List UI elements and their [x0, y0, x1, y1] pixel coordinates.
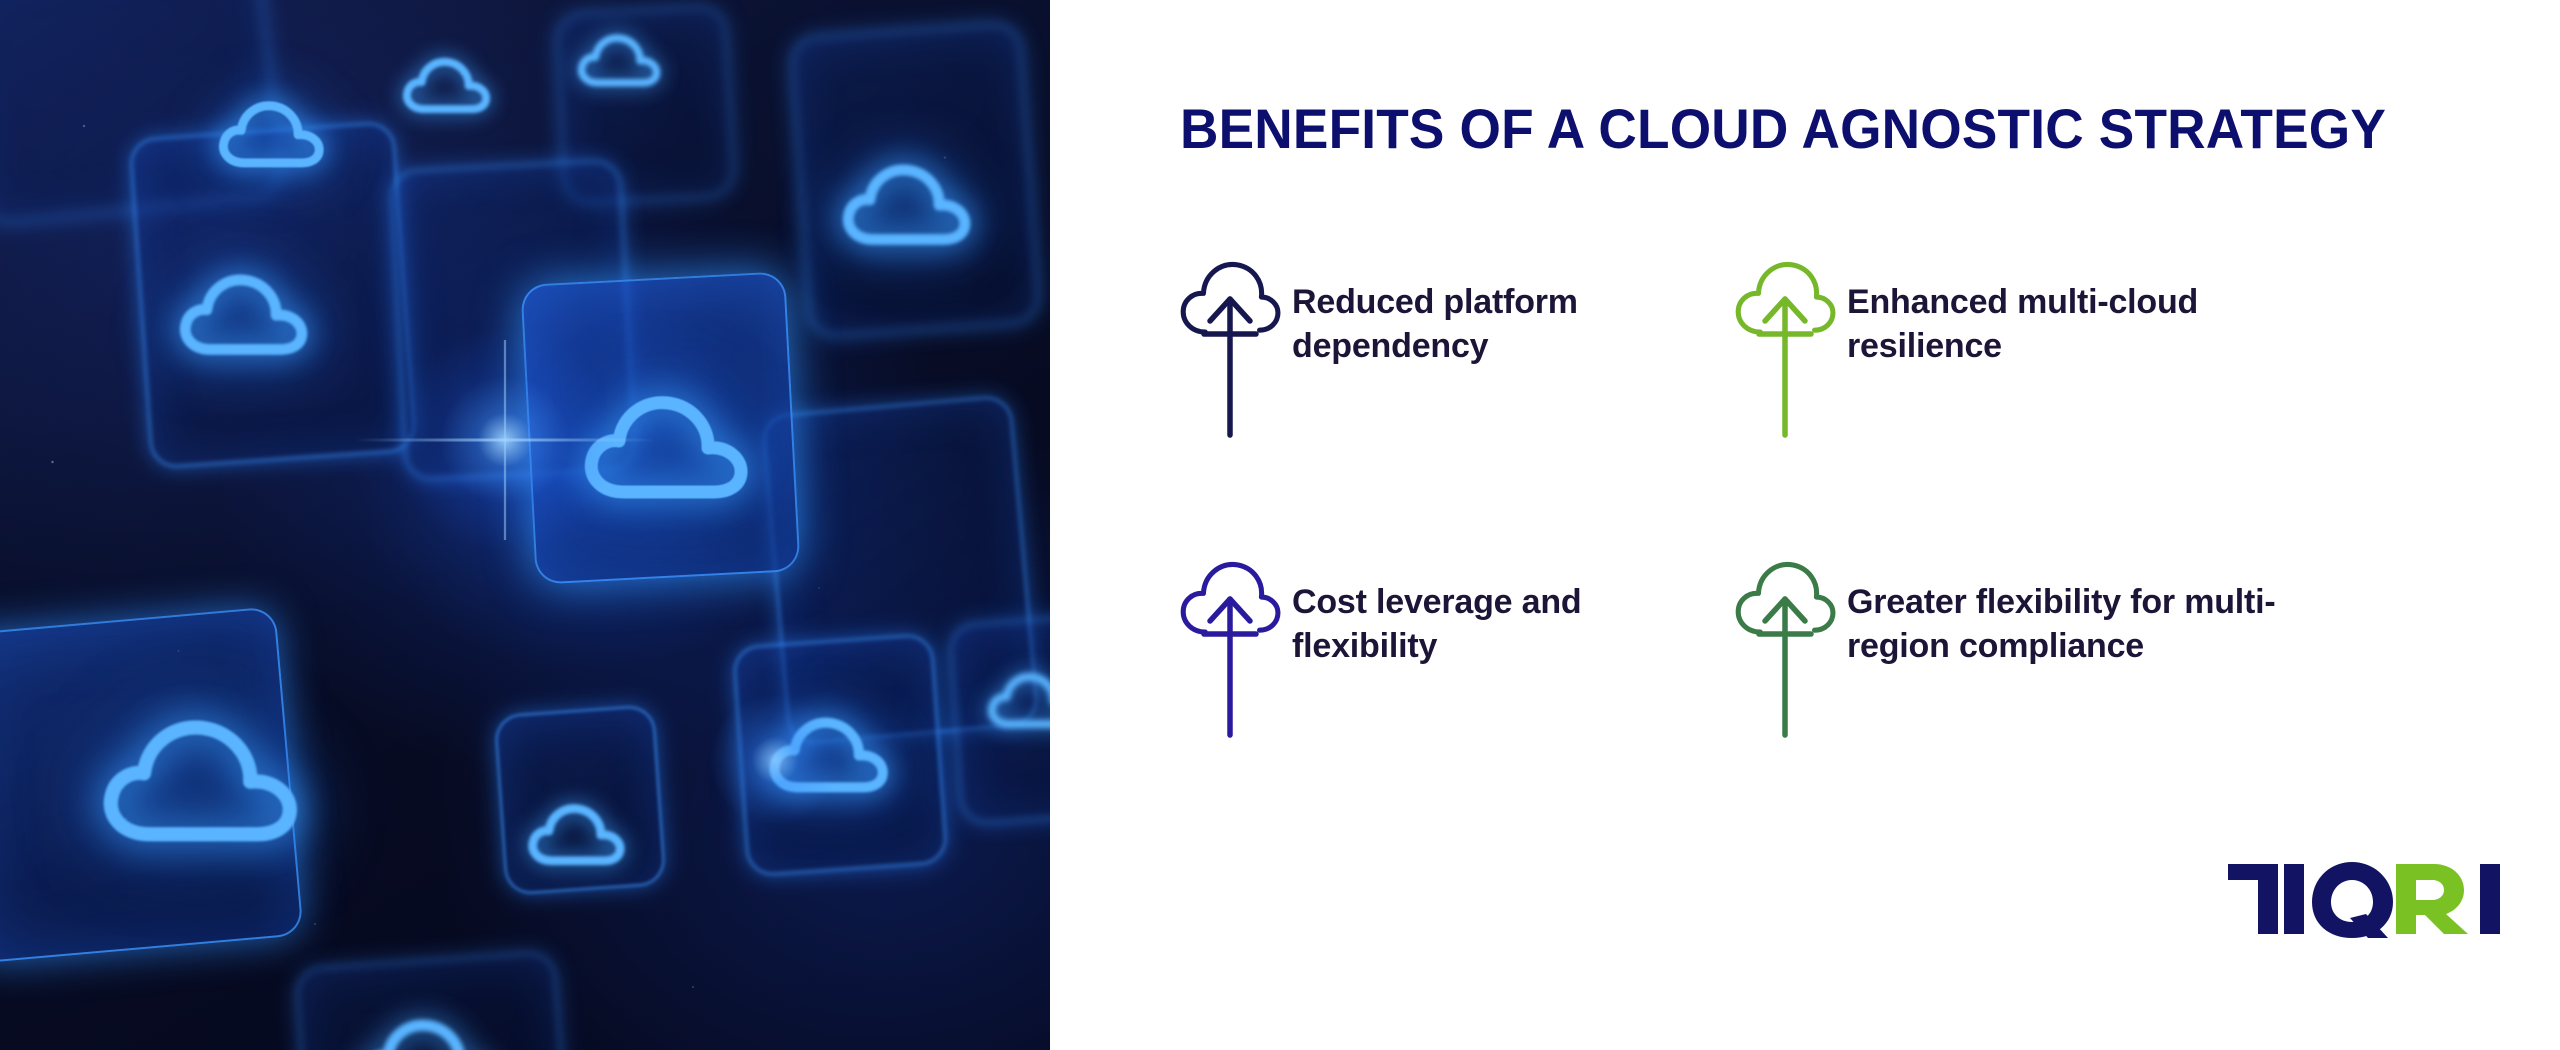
neon-cloud-icon-small-upper: [400, 45, 495, 123]
tiqri-logo: [2228, 860, 2508, 938]
benefit-label: Reduced platform dependency: [1292, 280, 1735, 368]
cloud-upload-arrow-icon: [1180, 252, 1280, 442]
neon-cloud-icon-top: [215, 85, 330, 180]
cloud-upload-arrow-icon: [1180, 552, 1280, 742]
content-panel: BENEFITS OF A CLOUD AGNOSTIC STRATEGY Re…: [1050, 0, 2560, 1050]
slide-root: BENEFITS OF A CLOUD AGNOSTIC STRATEGY Re…: [0, 0, 2560, 1050]
neon-cloud-icon-upper-right: [575, 22, 665, 96]
neon-cloud-icon-bottom: [355, 1000, 500, 1050]
lens-flare-primary: [385, 320, 625, 560]
benefits-grid: Reduced platform dependency Enhanced mul…: [1180, 240, 2480, 840]
hero-image-panel: [0, 0, 1050, 1050]
neon-cloud-icon-far-right: [985, 660, 1050, 738]
benefit-item-enhanced-multi-cloud-resilience: Enhanced multi-cloud resilience: [1735, 240, 2335, 540]
benefit-label: Enhanced multi-cloud resilience: [1847, 280, 2317, 368]
neon-cloud-icon-lower-left: [95, 690, 310, 865]
page-title: BENEFITS OF A CLOUD AGNOSTIC STRATEGY: [1180, 96, 2386, 161]
benefit-item-reduced-platform-dependency: Reduced platform dependency: [1180, 240, 1735, 540]
benefit-label: Cost leverage and flexibility: [1292, 580, 1735, 668]
neon-cloud-icon-lower-mid: [525, 790, 630, 876]
cloud-upload-arrow-icon: [1735, 552, 1835, 742]
lens-flare-secondary: [700, 685, 850, 835]
tiqri-logo-mark: [2228, 860, 2508, 938]
benefit-item-cost-leverage-and-flexibility: Cost leverage and flexibility: [1180, 540, 1735, 840]
neon-cloud-icon-mid-left: [175, 255, 315, 370]
benefit-item-greater-flexibility-multi-region-compliance: Greater flexibility for multi-region com…: [1735, 540, 2335, 840]
benefit-label: Greater flexibility for multi-region com…: [1847, 580, 2317, 668]
neon-cloud-icon-right: [838, 145, 978, 260]
cloud-upload-arrow-icon: [1735, 252, 1835, 442]
